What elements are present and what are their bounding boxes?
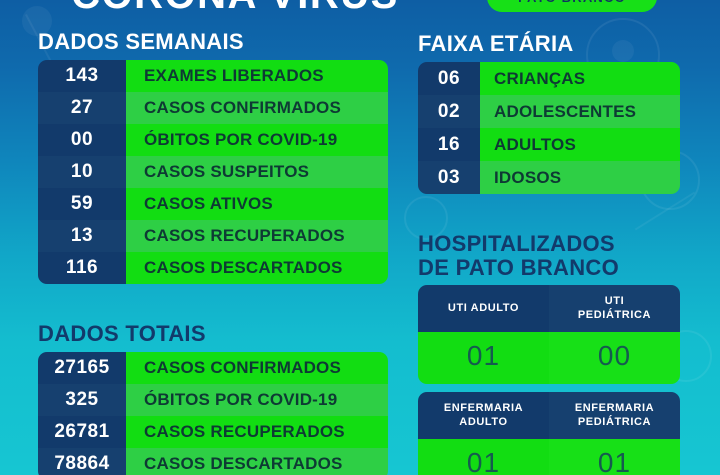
stat-value: 03 bbox=[418, 161, 480, 194]
age-groups-table: 06 CRIANÇAS 02 ADOLESCENTES 16 ADULTOS 0… bbox=[418, 62, 680, 194]
totals-stats-table: 27165 CASOS CONFIRMADOS 325 ÓBITOS POR C… bbox=[38, 352, 388, 475]
icu-value-row: 01 00 bbox=[418, 332, 680, 384]
stat-label: ADULTOS bbox=[480, 128, 680, 161]
stat-label: ADOLESCENTES bbox=[480, 95, 680, 128]
icu-card: UTI ADULTO UTI PEDIÁTRICA 01 00 bbox=[418, 285, 680, 384]
stat-value: 27 bbox=[38, 92, 126, 124]
stat-value: 116 bbox=[38, 252, 126, 284]
table-row: 03 IDOSOS bbox=[418, 161, 680, 194]
table-row: 02 ADOLESCENTES bbox=[418, 95, 680, 128]
section-heading-hospitalized: HOSPITALIZADOS DE PATO BRANCO bbox=[418, 232, 619, 280]
icu-pediatric-label: UTI PEDIÁTRICA bbox=[549, 285, 680, 332]
stat-value: 02 bbox=[418, 95, 480, 128]
table-row: 06 CRIANÇAS bbox=[418, 62, 680, 95]
table-row: 27 CASOS CONFIRMADOS bbox=[38, 92, 388, 124]
stat-label: CASOS CONFIRMADOS bbox=[126, 92, 388, 124]
section-heading-age-groups: FAIXA ETÁRIA bbox=[418, 32, 574, 56]
ward-value-row: 01 01 bbox=[418, 439, 680, 475]
stat-label: CASOS DESCARTADOS bbox=[126, 448, 388, 475]
ward-pediatric-value: 01 bbox=[549, 439, 680, 475]
table-row: 116 CASOS DESCARTADOS bbox=[38, 252, 388, 284]
stat-label: CASOS RECUPERADOS bbox=[126, 220, 388, 252]
table-row: 00 ÓBITOS POR COVID-19 bbox=[38, 124, 388, 156]
stat-value: 59 bbox=[38, 188, 126, 220]
stat-label: ÓBITOS POR COVID-19 bbox=[126, 384, 388, 416]
stat-value: 10 bbox=[38, 156, 126, 188]
ward-adult-value: 01 bbox=[418, 439, 549, 475]
stat-value: 16 bbox=[418, 128, 480, 161]
ward-header-row: ENFERMARIA ADULTO ENFERMARIA PEDIÁTRICA bbox=[418, 392, 680, 439]
page-title: CORONA VÍRUS bbox=[0, 0, 470, 16]
table-row: 59 CASOS ATIVOS bbox=[38, 188, 388, 220]
stat-value: 27165 bbox=[38, 352, 126, 384]
table-row: 143 EXAMES LIBERADOS bbox=[38, 60, 388, 92]
stat-value: 00 bbox=[38, 124, 126, 156]
ward-pediatric-label: ENFERMARIA PEDIÁTRICA bbox=[549, 392, 680, 439]
stat-label: CASOS RECUPERADOS bbox=[126, 416, 388, 448]
stat-value: 325 bbox=[38, 384, 126, 416]
infographic-canvas: CORONA VÍRUS PATO BRANCO DADOS SEMANAIS … bbox=[0, 0, 720, 475]
table-row: 13 CASOS RECUPERADOS bbox=[38, 220, 388, 252]
stat-label: CRIANÇAS bbox=[480, 62, 680, 95]
icu-header-row: UTI ADULTO UTI PEDIÁTRICA bbox=[418, 285, 680, 332]
table-row: 10 CASOS SUSPEITOS bbox=[38, 156, 388, 188]
table-row: 27165 CASOS CONFIRMADOS bbox=[38, 352, 388, 384]
icu-adult-label: UTI ADULTO bbox=[418, 285, 549, 332]
decorative-line bbox=[635, 192, 695, 231]
stat-label: CASOS SUSPEITOS bbox=[126, 156, 388, 188]
city-badge: PATO BRANCO bbox=[487, 0, 657, 12]
section-heading-weekly: DADOS SEMANAIS bbox=[38, 30, 244, 54]
table-row: 78864 CASOS DESCARTADOS bbox=[38, 448, 388, 475]
stat-value: 26781 bbox=[38, 416, 126, 448]
stat-value: 13 bbox=[38, 220, 126, 252]
stat-label: IDOSOS bbox=[480, 161, 680, 194]
table-row: 16 ADULTOS bbox=[418, 128, 680, 161]
section-heading-totals: DADOS TOTAIS bbox=[38, 322, 206, 346]
weekly-stats-table: 143 EXAMES LIBERADOS 27 CASOS CONFIRMADO… bbox=[38, 60, 388, 284]
stat-label: CASOS DESCARTADOS bbox=[126, 252, 388, 284]
icu-pediatric-value: 00 bbox=[549, 332, 680, 384]
ward-card: ENFERMARIA ADULTO ENFERMARIA PEDIÁTRICA … bbox=[418, 392, 680, 475]
table-row: 26781 CASOS RECUPERADOS bbox=[38, 416, 388, 448]
stat-value: 78864 bbox=[38, 448, 126, 475]
stat-value: 06 bbox=[418, 62, 480, 95]
decorative-virus-blob bbox=[612, 40, 634, 62]
stat-label: EXAMES LIBERADOS bbox=[126, 60, 388, 92]
icu-adult-value: 01 bbox=[418, 332, 549, 384]
ward-adult-label: ENFERMARIA ADULTO bbox=[418, 392, 549, 439]
stat-label: ÓBITOS POR COVID-19 bbox=[126, 124, 388, 156]
stat-label: CASOS ATIVOS bbox=[126, 188, 388, 220]
table-row: 325 ÓBITOS POR COVID-19 bbox=[38, 384, 388, 416]
stat-label: CASOS CONFIRMADOS bbox=[126, 352, 388, 384]
stat-value: 143 bbox=[38, 60, 126, 92]
